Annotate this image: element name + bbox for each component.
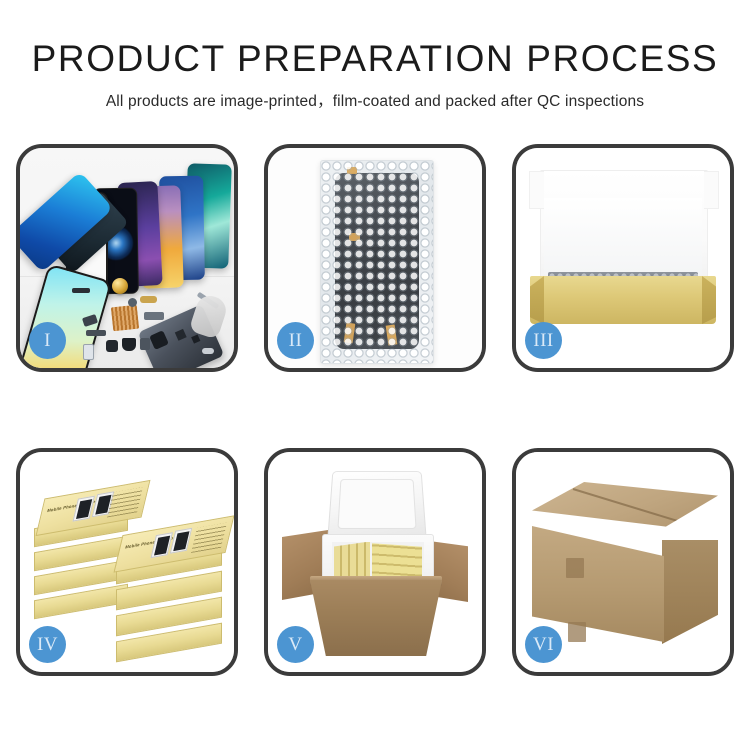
spare-part-icon [202,348,214,354]
carton-body-icon [310,580,442,656]
connector-pad-grid-icon [111,305,139,332]
spare-part-icon [144,312,164,320]
carton-seam [573,488,684,524]
step-badge-6: VI [525,626,562,663]
box-artwork-thumb-icon [151,532,173,558]
spare-part-icon [106,340,118,352]
spare-part-icon [86,330,106,336]
step-badge-4: IV [29,626,66,663]
process-step-panel-2: II [264,144,486,372]
spare-part-icon [72,288,90,293]
speaker-coil-icon [112,278,128,294]
box-artwork-thumb-icon [73,496,95,522]
spare-part-icon [128,298,137,307]
box-spec-lines-icon [191,523,227,553]
box-spec-lines-icon [107,487,143,517]
process-step-grid: I II III [0,138,750,698]
process-step-panel-6: VI [512,448,734,676]
box-artwork-thumb-icon [170,528,192,554]
carton-right-face [662,540,718,644]
foam-sheet-icon [544,198,702,274]
process-step-panel-4: Mobile Phone Spare Parts Mobile Phone Sp… [16,448,238,676]
spare-part-icon [83,344,94,360]
spare-part-icon [140,296,157,303]
step-badge-5: V [277,626,314,663]
step-badge-2: II [277,322,314,359]
carton-tape-top-icon [566,558,584,578]
page-header: PRODUCT PREPARATION PROCESS All products… [0,0,750,111]
spare-part-icon [122,338,136,351]
page-title: PRODUCT PREPARATION PROCESS [0,40,750,79]
process-step-panel-1: I [16,144,238,372]
carton-front-face [532,526,664,642]
spare-part-icon [140,338,150,350]
sealed-carton-icon [532,482,718,644]
bubble-wrap-bag-icon [320,160,434,364]
page-subtitle: All products are image-printed，film-coat… [0,89,750,111]
flex-cable-icon [369,247,381,342]
process-step-panel-3: III [512,144,734,372]
process-step-panel-5: V [264,448,486,676]
step-badge-3: III [525,322,562,359]
foam-box-lid-icon [327,471,426,538]
tape-strip-icon [347,167,357,174]
carton-tape-bottom-icon [568,622,586,642]
mailer-box-body-icon [530,276,716,324]
step-badge-1: I [29,322,66,359]
tape-strip-icon [349,233,360,241]
